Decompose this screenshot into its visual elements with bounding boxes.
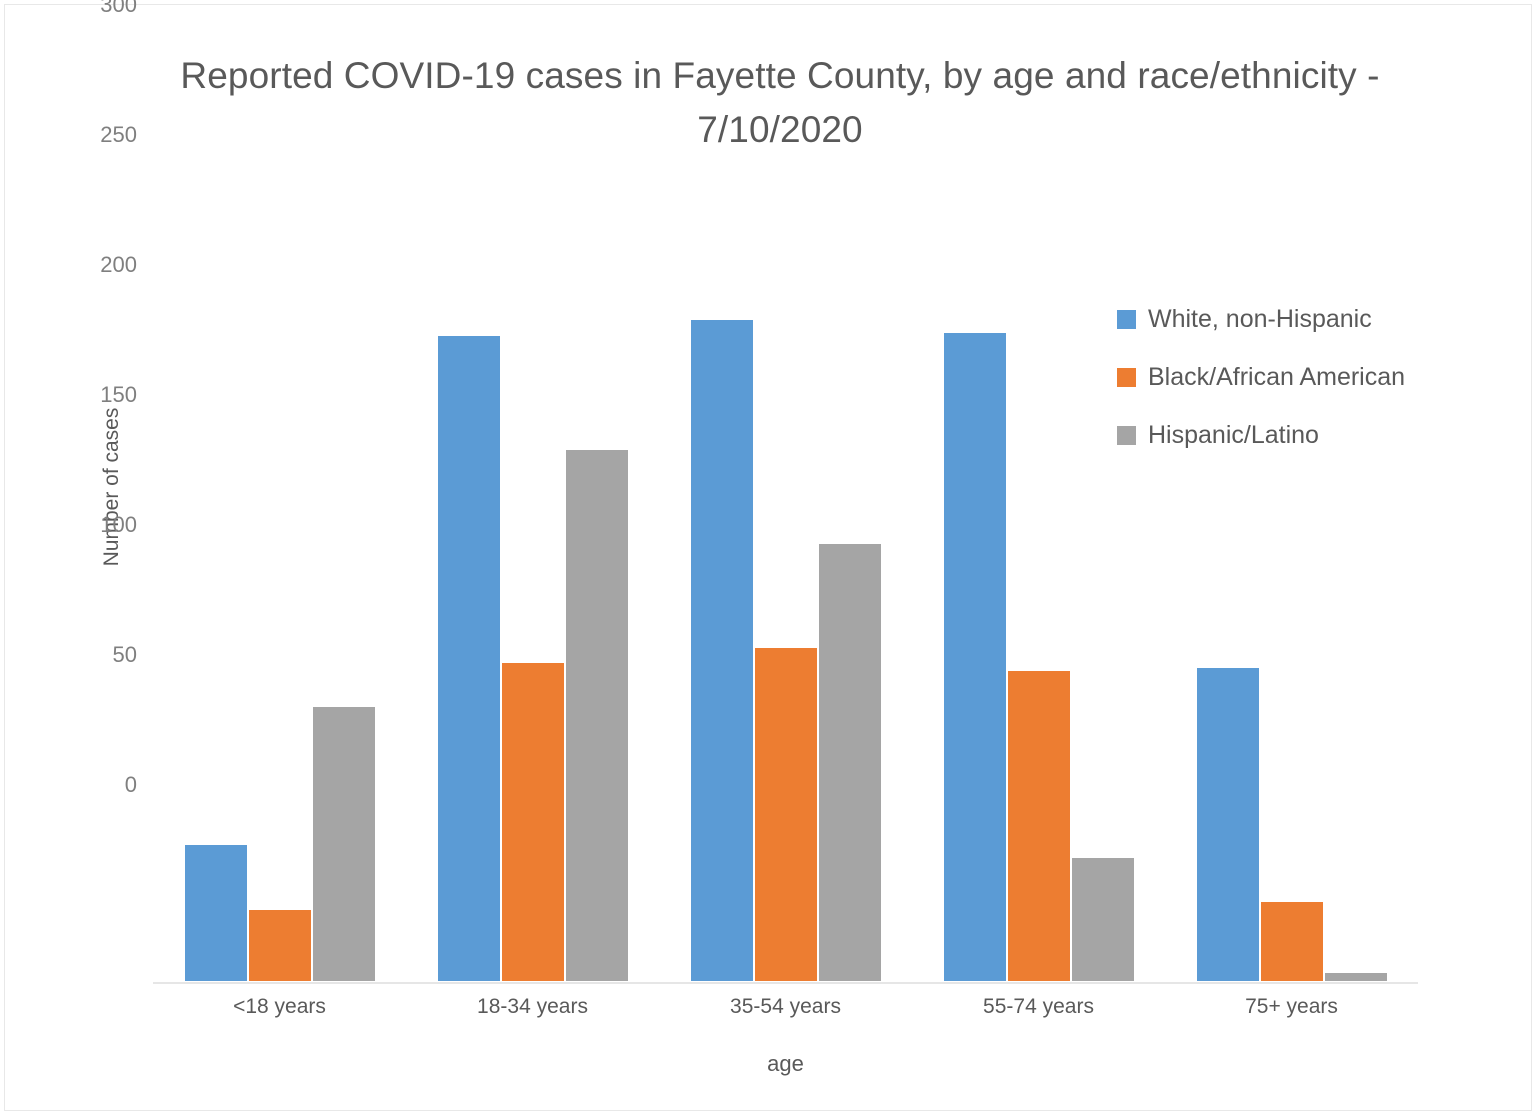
bar[interactable]	[312, 706, 376, 982]
bar[interactable]	[248, 909, 312, 982]
bar[interactable]	[565, 449, 629, 982]
bar[interactable]	[1071, 857, 1135, 982]
bar[interactable]	[501, 662, 565, 982]
y-axis-tick-label: 300	[67, 0, 137, 18]
legend-swatch-icon	[1117, 310, 1136, 329]
y-axis-tick-label: 0	[67, 772, 137, 798]
bar[interactable]	[1260, 901, 1324, 982]
legend-swatch-icon	[1117, 426, 1136, 445]
bar[interactable]	[184, 844, 248, 982]
x-axis-tick-labels: <18 years18-34 years35-54 years55-74 yea…	[153, 995, 1418, 1035]
bar-slot	[943, 202, 1007, 982]
y-axis-tick-label: 200	[67, 252, 137, 278]
y-axis-tick-label: 250	[67, 122, 137, 148]
x-axis-tick-label: 55-74 years	[912, 995, 1165, 1035]
bar[interactable]	[943, 332, 1007, 982]
x-axis-title: age	[153, 1051, 1418, 1077]
legend-item[interactable]: White, non-Hispanic	[1117, 290, 1447, 348]
bar[interactable]	[1196, 667, 1260, 982]
y-axis-tick-labels: 300250200150100500	[55, 5, 137, 1110]
bar-slot	[184, 202, 248, 982]
x-axis-tick-label: 75+ years	[1165, 995, 1418, 1035]
bar-slot	[1007, 202, 1071, 982]
bar[interactable]	[690, 319, 754, 982]
chart-container: Reported COVID-19 cases in Fayette Count…	[4, 4, 1532, 1111]
bar[interactable]	[754, 647, 818, 982]
x-axis-tick-label: 18-34 years	[406, 995, 659, 1035]
y-axis-tick-label: 50	[67, 642, 137, 668]
y-axis-tick-label: 100	[67, 512, 137, 538]
chart-title: Reported COVID-19 cases in Fayette Count…	[155, 49, 1405, 156]
bar-slot	[818, 202, 882, 982]
bar-group	[153, 202, 406, 982]
x-axis-baseline	[153, 982, 1418, 984]
legend-label: White, non-Hispanic	[1148, 305, 1372, 334]
bar-slot	[248, 202, 312, 982]
legend-swatch-icon	[1117, 368, 1136, 387]
bar-slot	[312, 202, 376, 982]
bar[interactable]	[818, 543, 882, 982]
bar[interactable]	[1007, 670, 1071, 982]
bar-slot	[501, 202, 565, 982]
bar-slot	[565, 202, 629, 982]
legend-label: Hispanic/Latino	[1148, 421, 1319, 450]
legend-item[interactable]: Black/African American	[1117, 348, 1447, 406]
y-axis-tick-label: 150	[67, 382, 137, 408]
bar-group	[659, 202, 912, 982]
bar[interactable]	[437, 335, 501, 982]
bar[interactable]	[1324, 972, 1388, 982]
chart-legend: White, non-HispanicBlack/African America…	[1117, 290, 1447, 464]
x-axis-tick-label: 35-54 years	[659, 995, 912, 1035]
bar-slot	[690, 202, 754, 982]
bar-group	[406, 202, 659, 982]
legend-item[interactable]: Hispanic/Latino	[1117, 406, 1447, 464]
legend-label: Black/African American	[1148, 363, 1405, 392]
bar-slot	[754, 202, 818, 982]
x-axis-tick-label: <18 years	[153, 995, 406, 1035]
bar-slot	[437, 202, 501, 982]
